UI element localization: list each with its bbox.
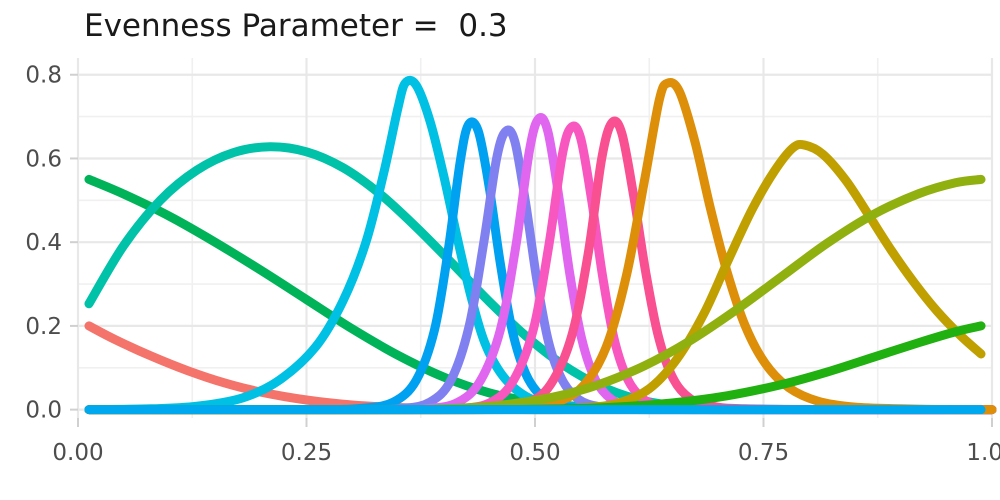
y-tick-label: 0.6 [25, 146, 62, 172]
y-axis-tick-labels: 0.00.20.40.60.8 [25, 63, 62, 424]
x-axis-tick-labels: 0.000.250.500.751.00 [52, 440, 1000, 466]
y-tick-label: 0.2 [25, 314, 62, 340]
plot-canvas: 0.00.20.40.60.8 0.000.250.500.751.00 [0, 0, 1000, 500]
x-tick-label: 1.00 [966, 440, 1000, 466]
x-tick-label: 0.25 [281, 440, 332, 466]
series-curves [89, 80, 992, 409]
chart-figure: Evenness Parameter = 0.3 0.00.20.40.60.8… [0, 0, 1000, 500]
x-tick-label: 0.00 [52, 440, 103, 466]
y-tick-label: 0.4 [25, 230, 62, 256]
y-tick-label: 0.8 [25, 63, 62, 89]
y-tick-label: 0.0 [25, 398, 62, 424]
x-tick-label: 0.75 [738, 440, 789, 466]
x-tick-label: 0.50 [509, 440, 560, 466]
